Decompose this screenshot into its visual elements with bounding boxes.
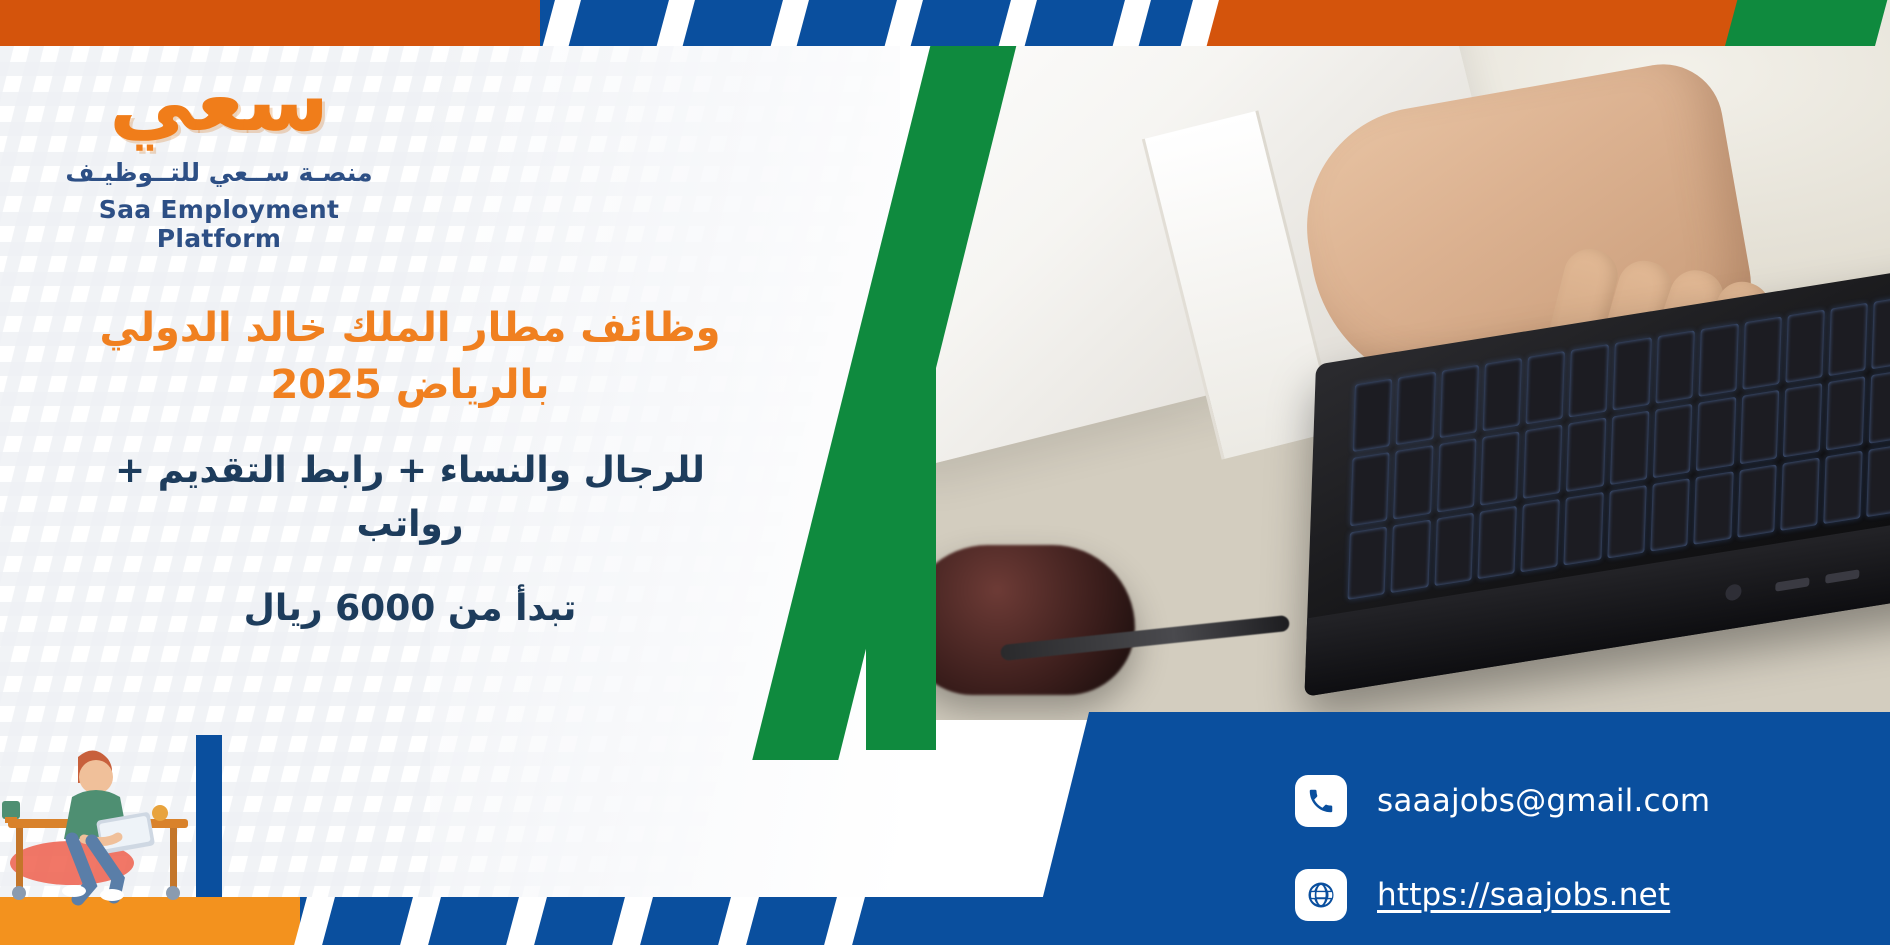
green-accent-edge-lower (866, 330, 936, 750)
subheadline-line-1: للرجال والنساء + رابط التقديم + رواتب (60, 444, 760, 552)
logo-wordmark: سعي (44, 58, 394, 144)
headline-line-2: بالرياض 2025 (60, 357, 760, 414)
phone-icon (1295, 775, 1347, 827)
computer-mouse (905, 545, 1135, 695)
contact-website-text[interactable]: https://saajobs.net (1377, 877, 1670, 913)
globe-icon (1295, 869, 1347, 921)
contact-item-website[interactable]: https://saajobs.net (1295, 869, 1710, 921)
headline-line-1: وظائف مطار الملك خالد الدولي (60, 300, 760, 357)
subheadline-line-2: تبدأ من 6000 ريال (60, 582, 760, 636)
hero-photo-person-typing (880, 0, 1890, 720)
headline-block: وظائف مطار الملك خالد الدولي بالرياض 202… (60, 300, 760, 636)
brand-logo: سعي منصـة ســعي للتــوظيـف Saa Employmen… (44, 58, 394, 253)
contact-email-text: saaajobs@gmail.com (1377, 783, 1710, 819)
logo-tagline-english: Saa Employment Platform (44, 195, 394, 253)
contact-list: saaajobs@gmail.com https://saajobs.net (1295, 775, 1710, 921)
job-ad-banner: saaajobs@gmail.com https://saajobs.net س… (0, 0, 1890, 945)
top-decorative-stripe (0, 0, 1890, 46)
illustration-person-at-desk (0, 701, 250, 911)
contact-item-email[interactable]: saaajobs@gmail.com (1295, 775, 1710, 827)
logo-tagline-arabic: منصـة ســعي للتــوظيـف (44, 158, 394, 187)
